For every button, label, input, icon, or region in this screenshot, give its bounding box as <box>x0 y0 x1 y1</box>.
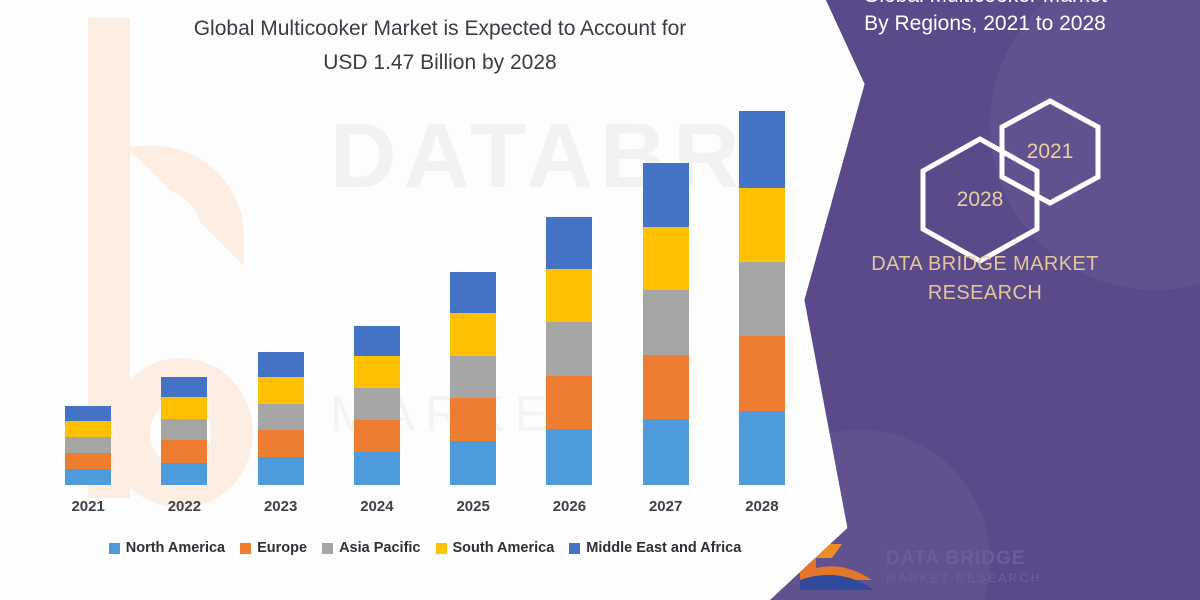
x-axis-label-2024: 2024 <box>329 498 425 515</box>
stacked-bar[interactable] <box>643 163 689 485</box>
panel-title-line-1: Global Multicooker Market <box>770 0 1200 10</box>
x-axis-label-2025: 2025 <box>425 498 521 515</box>
legend-swatch-icon <box>436 543 447 554</box>
legend-item[interactable]: Asia Pacific <box>322 540 420 556</box>
bar-segment <box>258 377 304 404</box>
data-bridge-logo: DATA BRIDGE MARKET RESEARCH <box>786 538 1116 594</box>
stacked-bar[interactable] <box>546 217 592 485</box>
bar-segment <box>65 437 111 453</box>
bar-segment <box>546 269 592 322</box>
x-axis-label-2022: 2022 <box>136 498 232 515</box>
right-brand-panel: Global Multicooker Market By Regions, 20… <box>770 0 1200 600</box>
bar-segment <box>161 397 207 418</box>
bar-column-2023 <box>233 100 329 485</box>
bar-segment <box>354 420 400 452</box>
bar-segment <box>65 469 111 485</box>
chart-title-line-2: USD 1.47 Billion by 2028 <box>90 46 790 80</box>
bar-segment <box>161 419 207 440</box>
bar-column-2025 <box>425 100 521 485</box>
bar-segment <box>546 217 592 269</box>
legend-label: Middle East and Africa <box>586 540 741 556</box>
bar-segment <box>450 398 496 441</box>
bar-segment <box>546 376 592 429</box>
infographic-canvas: DATABR MARKET Global Multicooker Market … <box>0 0 1200 600</box>
x-axis-label-2023: 2023 <box>233 498 329 515</box>
legend-swatch-icon <box>322 543 333 554</box>
bar-segment <box>258 352 304 377</box>
bar-column-2026 <box>521 100 617 485</box>
x-axis-label-2021: 2021 <box>40 498 136 515</box>
bar-segment <box>546 429 592 485</box>
brand-name-line-1: DATA BRIDGE MARKET <box>770 250 1200 279</box>
stacked-bar-group <box>40 100 810 485</box>
chart-plot-area <box>40 100 810 485</box>
hexagon-badges: 2021 2028 <box>770 92 1200 222</box>
bar-column-2022 <box>136 100 232 485</box>
hexagon-badge-2028: 2028 <box>915 134 1045 266</box>
bar-segment <box>739 411 785 485</box>
svg-text:DATA BRIDGE: DATA BRIDGE <box>886 548 1025 569</box>
brand-name: DATA BRIDGE MARKET RESEARCH <box>770 250 1200 308</box>
stacked-bar[interactable] <box>354 326 400 485</box>
bar-column-2021 <box>40 100 136 485</box>
bar-segment <box>354 452 400 485</box>
chart-legend: North AmericaEuropeAsia PacificSouth Ame… <box>40 540 810 556</box>
stacked-bar[interactable] <box>739 111 785 485</box>
panel-title-line-2: By Regions, 2021 to 2028 <box>770 10 1200 38</box>
bar-segment <box>258 430 304 457</box>
legend-label: Europe <box>257 540 307 556</box>
bar-segment <box>643 227 689 290</box>
x-axis-label-2026: 2026 <box>521 498 617 515</box>
bar-segment <box>643 290 689 354</box>
bar-column-2027 <box>618 100 714 485</box>
bar-segment <box>161 440 207 462</box>
bar-segment <box>65 453 111 469</box>
x-axis-label-2027: 2027 <box>618 498 714 515</box>
bar-segment <box>65 421 111 437</box>
bar-segment <box>354 356 400 388</box>
bar-segment <box>258 404 304 431</box>
panel-title: Global Multicooker Market By Regions, 20… <box>770 0 1200 39</box>
bar-segment <box>450 313 496 356</box>
stacked-bar[interactable] <box>161 377 207 485</box>
brand-name-line-2: RESEARCH <box>770 279 1200 308</box>
stacked-bar[interactable] <box>65 406 111 485</box>
bar-segment <box>739 188 785 262</box>
legend-label: North America <box>126 540 225 556</box>
legend-item[interactable]: North America <box>109 540 225 556</box>
bar-segment <box>546 322 592 375</box>
bar-segment <box>354 388 400 420</box>
legend-item[interactable]: Europe <box>240 540 307 556</box>
bar-segment <box>643 355 689 419</box>
bar-segment <box>450 272 496 313</box>
bar-segment <box>354 326 400 356</box>
legend-item[interactable]: Middle East and Africa <box>569 540 741 556</box>
bar-segment <box>450 441 496 485</box>
legend-label: South America <box>453 540 555 556</box>
x-axis-label-2028: 2028 <box>714 498 810 515</box>
svg-text:MARKET RESEARCH: MARKET RESEARCH <box>886 571 1042 585</box>
hexagon-badge-2028-label: 2028 <box>957 188 1004 212</box>
bar-column-2024 <box>329 100 425 485</box>
x-axis-tick-labels: 20212022202320242025202620272028 <box>40 498 810 515</box>
bar-segment <box>65 406 111 421</box>
bar-column-2028 <box>714 100 810 485</box>
legend-item[interactable]: South America <box>436 540 555 556</box>
legend-swatch-icon <box>240 543 251 554</box>
bar-segment <box>739 336 785 411</box>
bar-segment <box>450 356 496 399</box>
legend-swatch-icon <box>109 543 120 554</box>
stacked-bar[interactable] <box>258 352 304 485</box>
bar-segment <box>739 262 785 337</box>
chart-title: Global Multicooker Market is Expected to… <box>90 12 790 79</box>
bar-segment <box>258 457 304 485</box>
bar-segment <box>643 419 689 485</box>
stacked-bar[interactable] <box>450 272 496 485</box>
bar-segment <box>643 163 689 227</box>
legend-label: Asia Pacific <box>339 540 420 556</box>
hexagon-badge-2021-label: 2021 <box>1027 140 1074 164</box>
chart-title-line-1: Global Multicooker Market is Expected to… <box>90 12 790 46</box>
bar-segment <box>739 111 785 188</box>
legend-swatch-icon <box>569 543 580 554</box>
bar-segment <box>161 377 207 397</box>
bar-segment <box>161 463 207 485</box>
